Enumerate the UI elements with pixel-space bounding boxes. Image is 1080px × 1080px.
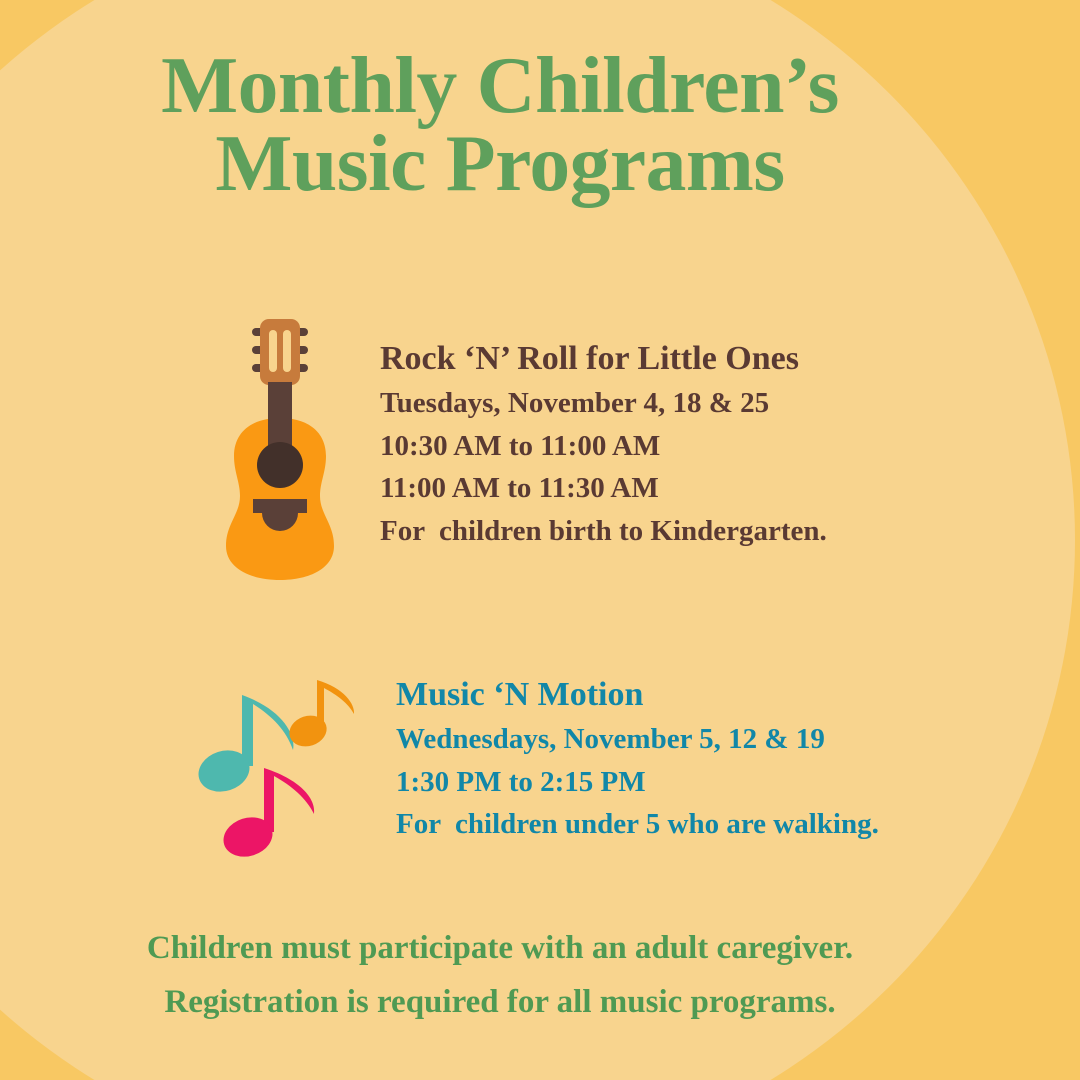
program-heading: Rock ‘N’ Roll for Little Ones (380, 338, 827, 380)
program-detail-time-2: 11:00 AM to 11:30 AM (380, 467, 827, 510)
page-title-line-1: Monthly Children’s (0, 48, 1010, 126)
footer-note: Children must participate with an adult … (0, 922, 1000, 1030)
program-detail-dates: Wednesdays, November 5, 12 & 19 (396, 718, 879, 761)
acoustic-guitar-icon (200, 306, 360, 586)
poster-content: Monthly Children’s Music Programs (0, 0, 1080, 1080)
page-title: Monthly Children’s Music Programs (0, 48, 1000, 203)
page-title-line-2: Music Programs (0, 126, 1010, 204)
program-block-rock-n-roll: Rock ‘N’ Roll for Little Ones Tuesdays, … (200, 306, 827, 586)
program-detail-time-1: 1:30 PM to 2:15 PM (396, 761, 879, 804)
program-detail-audience: For children under 5 who are walking. (396, 803, 879, 846)
poster: Monthly Children’s Music Programs (0, 0, 1080, 1080)
program-detail-time-1: 10:30 AM to 11:00 AM (380, 425, 827, 468)
program-text-rock-n-roll: Rock ‘N’ Roll for Little Ones Tuesdays, … (360, 306, 827, 553)
program-heading: Music ‘N Motion (396, 674, 879, 716)
program-detail-audience: For children birth to Kindergarten. (380, 510, 827, 553)
program-block-music-n-motion: Music ‘N Motion Wednesdays, November 5, … (196, 662, 879, 862)
program-text-music-n-motion: Music ‘N Motion Wednesdays, November 5, … (376, 662, 879, 846)
program-detail-dates: Tuesdays, November 4, 18 & 25 (380, 382, 827, 425)
note-teal (196, 695, 293, 798)
note-orange (285, 680, 354, 751)
footer-line-2: Registration is required for all music p… (0, 976, 1000, 1030)
music-notes-icon (196, 662, 376, 862)
footer-line-1: Children must participate with an adult … (0, 922, 1000, 976)
